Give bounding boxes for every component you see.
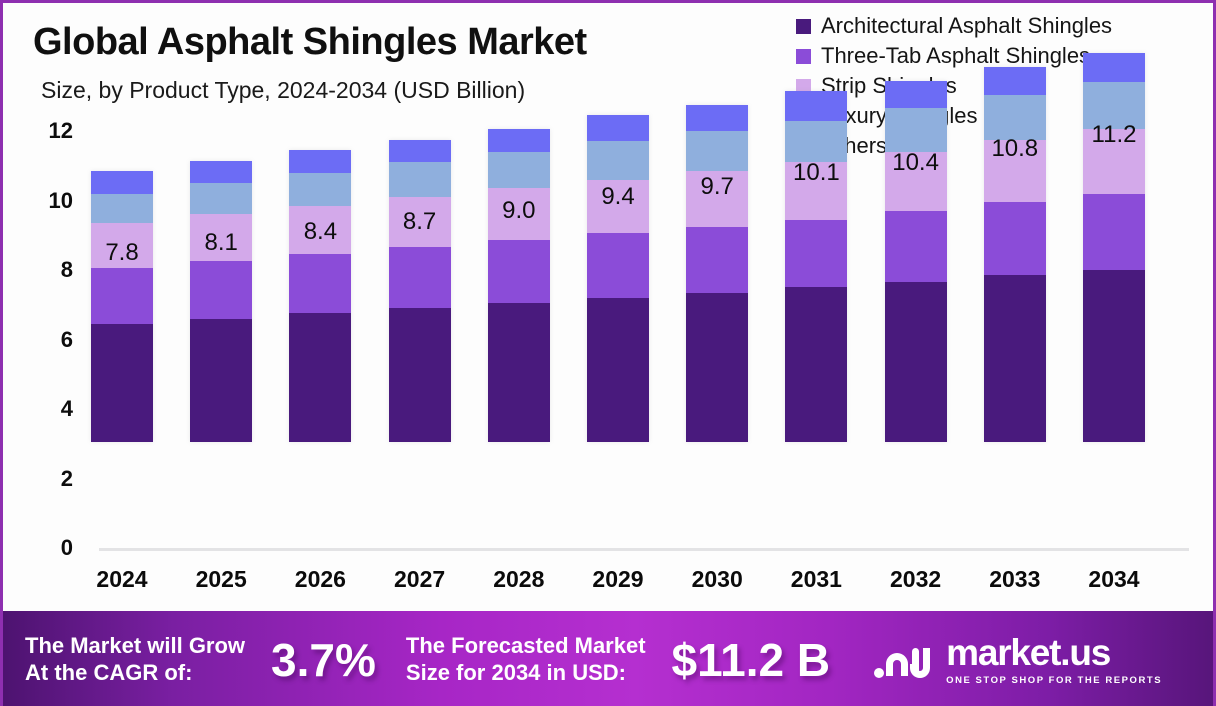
bar-segment[interactable] [1083,270,1145,442]
bar-stack[interactable] [91,171,153,442]
bar-segment[interactable] [289,254,351,313]
y-axis-tick-label: 10 [15,188,73,214]
bar-segment[interactable] [885,81,947,109]
bar-segment[interactable] [190,161,252,184]
bar-segment[interactable] [488,303,550,442]
bar-stack[interactable] [587,115,649,442]
bar-stack[interactable] [785,91,847,442]
footer-bar: The Market will Grow At the CAGR of: 3.7… [3,611,1216,706]
y-axis-tick-label: 0 [15,535,73,561]
bar-segment[interactable] [389,140,451,163]
bar-stack[interactable] [1083,53,1145,442]
bar-segment[interactable] [289,150,351,173]
x-axis-line [99,548,1189,551]
bar-segment[interactable] [587,233,649,297]
bar-segment[interactable] [984,95,1046,140]
bar-segment[interactable] [587,141,649,179]
bar-segment[interactable] [1083,194,1145,270]
market-us-mark-icon [872,638,936,682]
cagr-value: 3.7% [271,633,376,687]
cagr-label-line2: At the CAGR of: [25,660,245,687]
cagr-label: The Market will Grow At the CAGR of: [25,633,245,687]
bar-segment[interactable] [686,131,748,171]
bar-segment[interactable] [785,121,847,163]
cagr-label-line1: The Market will Grow [25,633,245,660]
bar-segment[interactable] [885,108,947,151]
bar-segment[interactable] [389,247,451,308]
market-us-wordmark: market.us ONE STOP SHOP FOR THE REPORTS [946,634,1162,686]
bar-segment[interactable] [984,67,1046,95]
forecast-value: $11.2 B [672,633,831,687]
bar-segment[interactable] [488,152,550,188]
infographic-page: Global Asphalt Shingles Market Size, by … [0,0,1216,706]
bar-stack[interactable] [389,140,451,442]
bar-segment[interactable] [785,220,847,288]
market-us-logo[interactable]: market.us ONE STOP SHOP FOR THE REPORTS [872,634,1162,686]
bar-segment[interactable] [488,240,550,303]
bar-segment[interactable] [91,171,153,194]
logo-tagline: ONE STOP SHOP FOR THE REPORTS [946,675,1162,686]
y-axis-tick-label: 4 [15,396,73,422]
bar-segment[interactable] [984,275,1046,442]
bar-segment[interactable] [785,91,847,121]
bar-segment[interactable] [190,319,252,442]
bar-segment[interactable] [190,183,252,214]
bar-stack[interactable] [488,129,550,442]
bar-segment[interactable] [885,282,947,442]
bar-segment[interactable] [885,211,947,282]
bar-segment[interactable] [686,105,748,131]
forecast-label-line2: Size for 2034 in USD: [406,660,646,687]
logo-word: market.us [946,632,1110,673]
bar-segment[interactable] [1083,53,1145,83]
bar-segment[interactable] [91,194,153,224]
bar-stack[interactable] [885,81,947,442]
bar-segment[interactable] [587,115,649,141]
bar-segment[interactable] [488,129,550,152]
forecast-label-line1: The Forecasted Market [406,633,646,660]
bar-segment[interactable] [91,324,153,442]
bar-value-label: 11.2 [1054,121,1174,149]
bar-segment[interactable] [686,293,748,442]
bar-segment[interactable] [289,313,351,442]
bar-stack[interactable] [289,150,351,442]
bar-segment[interactable] [190,261,252,318]
bar-segment[interactable] [389,308,451,442]
forecast-label: The Forecasted Market Size for 2034 in U… [406,633,646,687]
bar-stack[interactable] [686,105,748,442]
x-axis-tick-label: 2034 [1054,566,1174,593]
y-axis-tick-label: 12 [15,118,73,144]
bar-segment[interactable] [785,287,847,442]
y-axis-tick-label: 2 [15,466,73,492]
bar-segment[interactable] [289,173,351,206]
y-axis-tick-label: 6 [15,327,73,353]
bar-segment[interactable] [587,298,649,442]
chart-plot-area: 0246810127.820248.120258.420268.720279.0… [3,3,1216,603]
bar-segment[interactable] [91,268,153,324]
bar-stack[interactable] [190,161,252,442]
bar-stack[interactable] [984,67,1046,442]
bar-segment[interactable] [389,162,451,197]
bar-segment[interactable] [984,202,1046,275]
bar-segment[interactable] [686,227,748,293]
